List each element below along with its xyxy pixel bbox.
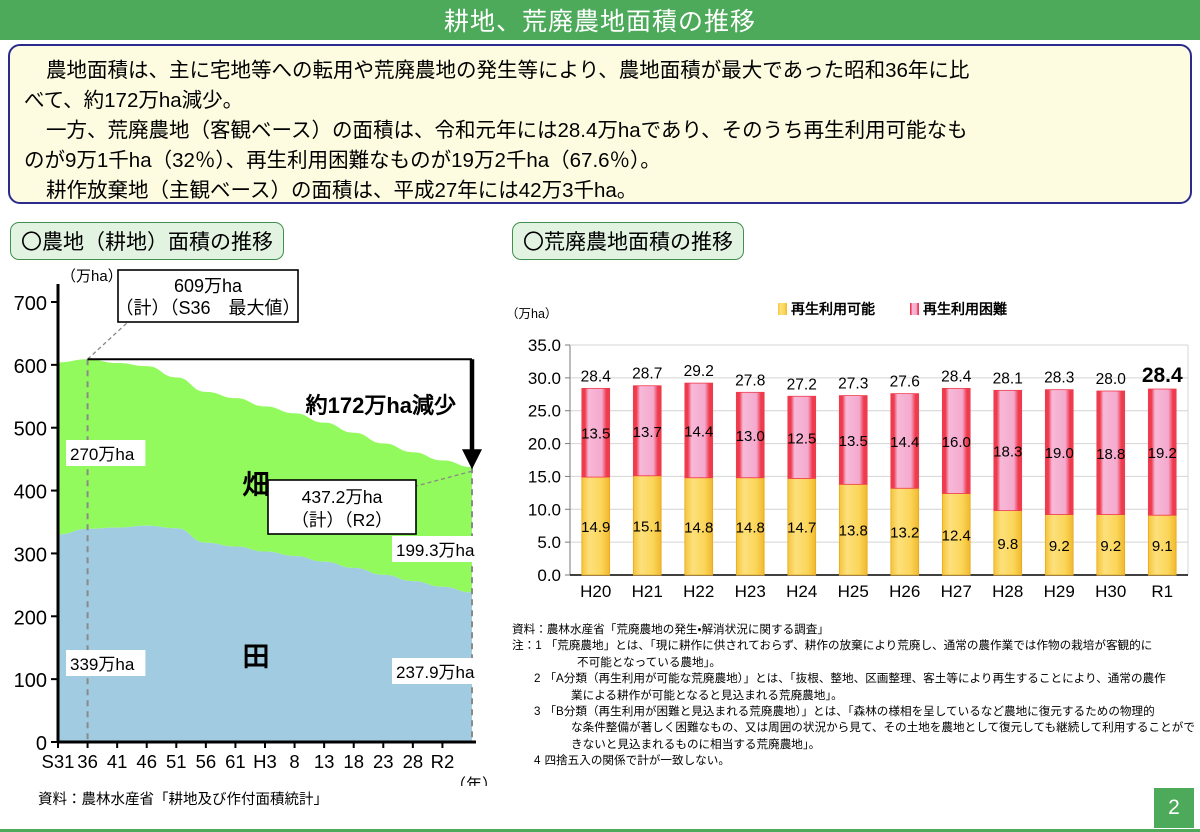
svg-text:28.1: 28.1: [993, 370, 1023, 387]
svg-text:500: 500: [14, 419, 47, 441]
svg-text:19.0: 19.0: [1045, 445, 1074, 462]
svg-text:41: 41: [107, 751, 128, 772]
note-text: 「B分類（再生利用が困難と見込まれる荒廃農地）」とは、「森林の様相を呈しているな…: [544, 704, 1188, 720]
abandoned-farmland-bar-chart-svg: 再生利用可能再生利用困難（万ha）0.05.010.015.020.025.03…: [500, 290, 1200, 610]
svg-text:（計）（S36 最大値）: （計）（S36 最大値）: [115, 298, 300, 318]
farmland-area-chart: 0100200300400500600700（万ha）S313641465156…: [0, 266, 505, 786]
svg-text:H27: H27: [941, 582, 972, 601]
note-row: 業による耕作が可能となると見込まれる荒廃農地」。: [512, 688, 1188, 704]
note-text: 四捨五入の関係で計が一致しない。: [544, 753, 1188, 769]
svg-text:14.9: 14.9: [581, 519, 610, 536]
svg-text:H3: H3: [253, 751, 277, 772]
svg-text:28.4: 28.4: [581, 368, 612, 385]
note-text: 「A分類（再生利用が可能な荒廃農地）」とは、「抜根、整地、区画整理、客土等により…: [544, 671, 1188, 687]
svg-text:H25: H25: [838, 582, 869, 601]
summary-line-4: のが9万1千ha（32％）、再生利用困難なものが19万2千ha（67.6％）。: [24, 146, 1176, 176]
svg-text:H29: H29: [1044, 582, 1075, 601]
svg-text:9.1: 9.1: [1152, 538, 1173, 555]
note-row: きないと見込まれるものに相当する荒廃農地」。: [512, 737, 1188, 753]
svg-text:H30: H30: [1095, 582, 1126, 601]
svg-text:51: 51: [166, 751, 187, 772]
svg-text:18.3: 18.3: [993, 443, 1022, 460]
svg-text:270万ha: 270万ha: [70, 445, 135, 464]
svg-text:9.2: 9.2: [1100, 538, 1121, 555]
svg-text:28.7: 28.7: [632, 366, 662, 383]
section-header-farmland: 〇農地（耕地）面積の推移: [10, 222, 284, 260]
svg-text:14.8: 14.8: [736, 519, 765, 536]
slide-root: 耕地、荒廃農地面積の推移 農地面積は、主に宅地等への転用や荒廃農地の発生等により…: [0, 0, 1200, 832]
summary-line-3: 一方、荒廃農地（客観ベース）の面積は、令和元年には28.4万haであり、そのうち…: [24, 116, 1176, 146]
farmland-area-chart-svg: 0100200300400500600700（万ha）S313641465156…: [0, 266, 505, 786]
svg-text:13.8: 13.8: [839, 523, 868, 540]
svg-text:27.3: 27.3: [838, 376, 868, 393]
svg-text:H21: H21: [632, 582, 663, 601]
svg-text:35.0: 35.0: [528, 336, 561, 355]
svg-text:（年）: （年）: [450, 776, 498, 786]
svg-text:237.9万ha: 237.9万ha: [396, 663, 475, 682]
note-number: 4: [512, 753, 544, 769]
svg-text:27.6: 27.6: [890, 374, 920, 391]
section-header-abandoned-label: 〇荒廃農地面積の推移: [523, 226, 733, 256]
svg-text:（万ha）: （万ha）: [61, 268, 123, 285]
svg-text:16.0: 16.0: [942, 434, 971, 451]
summary-box: 農地面積は、主に宅地等への転用や荒廃農地の発生等により、農地面積が最大であった昭…: [8, 44, 1192, 204]
note-number: 3: [512, 704, 544, 720]
note-number: 注：1: [512, 638, 546, 654]
page-number-badge: 2: [1154, 788, 1194, 828]
svg-text:14.4: 14.4: [684, 423, 713, 440]
svg-text:20.0: 20.0: [528, 435, 561, 454]
svg-text:13.5: 13.5: [581, 426, 610, 443]
summary-line-2: べて、約172万ha減少。: [24, 86, 1176, 116]
svg-text:13: 13: [314, 751, 335, 772]
summary-line-1: 農地面積は、主に宅地等への転用や荒廃農地の発生等により、農地面積が最大であった昭…: [24, 56, 1176, 86]
svg-text:18: 18: [343, 751, 364, 772]
svg-text:（計）（R2）: （計）（R2）: [291, 510, 392, 530]
svg-text:28.3: 28.3: [1044, 370, 1074, 387]
note-row: 3「B分類（再生利用が困難と見込まれる荒廃農地）」とは、「森林の様相を呈している…: [512, 704, 1188, 720]
svg-text:199.3万ha: 199.3万ha: [396, 541, 475, 560]
svg-text:28.4: 28.4: [1142, 364, 1183, 387]
note-number: [512, 688, 538, 704]
note-number: [512, 655, 544, 671]
svg-text:200: 200: [14, 607, 47, 629]
svg-text:R2: R2: [431, 751, 455, 772]
svg-text:R1: R1: [1151, 582, 1173, 601]
note-row: 4四捨五入の関係で計が一致しない。: [512, 753, 1188, 769]
svg-text:H28: H28: [992, 582, 1023, 601]
svg-text:28.4: 28.4: [941, 368, 972, 385]
svg-text:9.2: 9.2: [1049, 538, 1070, 555]
svg-text:約172万ha減少: 約172万ha減少: [305, 393, 456, 418]
svg-text:400: 400: [14, 482, 47, 504]
note-number: 2: [512, 671, 544, 687]
svg-text:再生利用可能: 再生利用可能: [791, 301, 875, 317]
svg-text:H23: H23: [735, 582, 766, 601]
svg-text:H20: H20: [580, 582, 611, 601]
svg-text:28.0: 28.0: [1096, 371, 1127, 388]
svg-text:14.7: 14.7: [787, 520, 816, 537]
svg-text:13.7: 13.7: [633, 424, 662, 441]
svg-text:14.8: 14.8: [684, 519, 713, 536]
svg-text:12.5: 12.5: [787, 430, 816, 447]
svg-text:畑: 畑: [243, 470, 270, 500]
section-header-abandoned: 〇荒廃農地面積の推移: [512, 222, 744, 260]
abandoned-notes-block: 資料：農林水産省「荒廃農地の発生・解消状況に関する調査」 注：1「荒廃農地」とは…: [512, 622, 1188, 770]
farmland-source-note: 資料：農林水産省「耕地及び作付面積統計」: [38, 788, 328, 809]
svg-text:61: 61: [225, 751, 246, 772]
svg-text:29.2: 29.2: [684, 363, 714, 380]
svg-text:15.1: 15.1: [633, 518, 662, 535]
svg-text:25.0: 25.0: [528, 402, 561, 421]
abandoned-source-note: 資料：農林水産省「荒廃農地の発生・解消状況に関する調査」: [512, 622, 1188, 638]
svg-text:300: 300: [14, 544, 47, 566]
svg-text:15.0: 15.0: [528, 467, 561, 486]
svg-text:12.4: 12.4: [942, 527, 971, 544]
note-text: 「荒廃農地」とは、「現に耕作に供されておらず、耕作の放棄により荒廃し、通常の農作…: [546, 638, 1188, 654]
svg-text:田: 田: [243, 642, 270, 672]
svg-text:14.4: 14.4: [890, 434, 919, 451]
note-row: 注：1「荒廃農地」とは、「現に耕作に供されておらず、耕作の放棄により荒廃し、通常…: [512, 638, 1188, 654]
svg-text:再生利用困難: 再生利用困難: [923, 301, 1007, 317]
note-text: な条件整備が著しく困難なもの、又は周囲の状況から見て、その土地を農地として復元し…: [538, 720, 1195, 736]
svg-text:46: 46: [136, 751, 157, 772]
svg-text:36: 36: [77, 751, 98, 772]
note-text: 業による耕作が可能となると見込まれる荒廃農地」。: [538, 688, 1188, 704]
svg-text:30.0: 30.0: [528, 369, 561, 388]
note-row: な条件整備が著しく困難なもの、又は周囲の状況から見て、その土地を農地として復元し…: [512, 720, 1188, 736]
svg-text:H22: H22: [683, 582, 714, 601]
svg-text:13.0: 13.0: [736, 428, 765, 445]
note-row: 2「A分類（再生利用が可能な荒廃農地）」とは、「抜根、整地、区画整理、客土等によ…: [512, 671, 1188, 687]
note-text: きないと見込まれるものに相当する荒廃農地」。: [538, 737, 1188, 753]
page-number: 2: [1168, 796, 1180, 820]
svg-text:H24: H24: [786, 582, 817, 601]
svg-text:609万ha: 609万ha: [174, 276, 243, 296]
svg-text:0.0: 0.0: [537, 566, 561, 585]
svg-text:600: 600: [14, 356, 47, 378]
svg-text:339万ha: 339万ha: [70, 655, 135, 674]
svg-text:（万ha）: （万ha）: [506, 307, 557, 321]
section-header-farmland-label: 〇農地（耕地）面積の推移: [21, 226, 273, 256]
svg-text:13.5: 13.5: [839, 433, 868, 450]
svg-text:437.2万ha: 437.2万ha: [302, 487, 383, 507]
note-text: 不可能となっている農地」。: [544, 655, 1188, 671]
svg-text:9.8: 9.8: [997, 536, 1018, 553]
svg-text:10.0: 10.0: [528, 500, 561, 519]
svg-text:19.2: 19.2: [1148, 445, 1177, 462]
abandoned-farmland-bar-chart: 再生利用可能再生利用困難（万ha）0.05.010.015.020.025.03…: [500, 290, 1200, 610]
svg-text:S31: S31: [42, 751, 75, 772]
slide-header: 耕地、荒廃農地面積の推移: [0, 0, 1200, 40]
page-title: 耕地、荒廃農地面積の推移: [444, 2, 756, 38]
svg-text:700: 700: [14, 293, 47, 315]
svg-text:28: 28: [403, 751, 424, 772]
svg-text:8: 8: [289, 751, 299, 772]
note-row: 不可能となっている農地」。: [512, 655, 1188, 671]
svg-text:56: 56: [196, 751, 217, 772]
svg-text:13.2: 13.2: [890, 525, 919, 542]
note-number: [512, 737, 538, 753]
abandoned-source-note-text: 資料：農林水産省「荒廃農地の発生・解消状況に関する調査」: [512, 622, 1188, 638]
svg-text:23: 23: [373, 751, 394, 772]
svg-text:18.8: 18.8: [1096, 446, 1125, 463]
summary-line-5: 耕作放棄地（主観ベース）の面積は、平成27年には42万3千ha。: [24, 176, 1176, 206]
svg-text:100: 100: [14, 670, 47, 692]
svg-text:27.2: 27.2: [787, 376, 817, 393]
svg-text:H26: H26: [889, 582, 920, 601]
svg-text:27.8: 27.8: [735, 372, 765, 389]
svg-text:5.0: 5.0: [537, 533, 561, 552]
note-number: [512, 720, 538, 736]
